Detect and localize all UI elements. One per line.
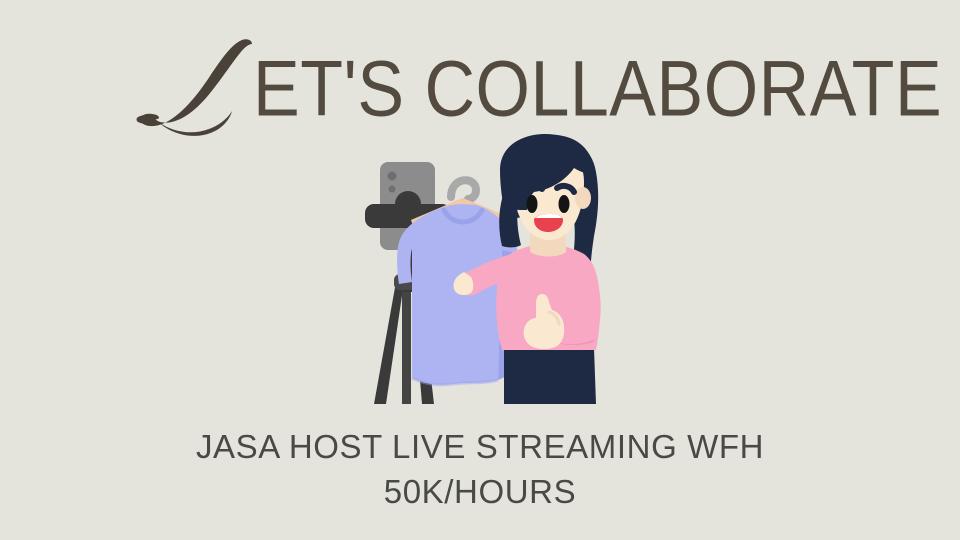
tripod-leg-left	[374, 282, 404, 404]
hero-illustration	[352, 132, 622, 410]
caption-line-2: 50K/HOURS	[0, 469, 960, 514]
eye-right	[559, 195, 570, 213]
caption-line-1: JASA HOST LIVE STREAMING WFH	[0, 424, 960, 469]
phone-camera-lens-1	[388, 172, 397, 181]
poster-canvas: ET'S COLLABORATE	[0, 0, 960, 540]
ear-right	[575, 187, 591, 209]
phone-clamp-knob	[395, 191, 421, 217]
hair-strand-left	[499, 192, 521, 247]
tripod-leg-center	[402, 282, 411, 404]
skirt	[504, 348, 596, 404]
page-title: ET'S COLLABORATE	[0, 24, 960, 134]
page-title-text: ET'S COLLABORATE	[253, 50, 942, 128]
phone-camera-lens-2	[389, 186, 396, 193]
eye-left	[527, 195, 538, 213]
hanger-hook	[451, 180, 476, 199]
caption-block: JASA HOST LIVE STREAMING WFH 50K/HOURS	[0, 424, 960, 514]
